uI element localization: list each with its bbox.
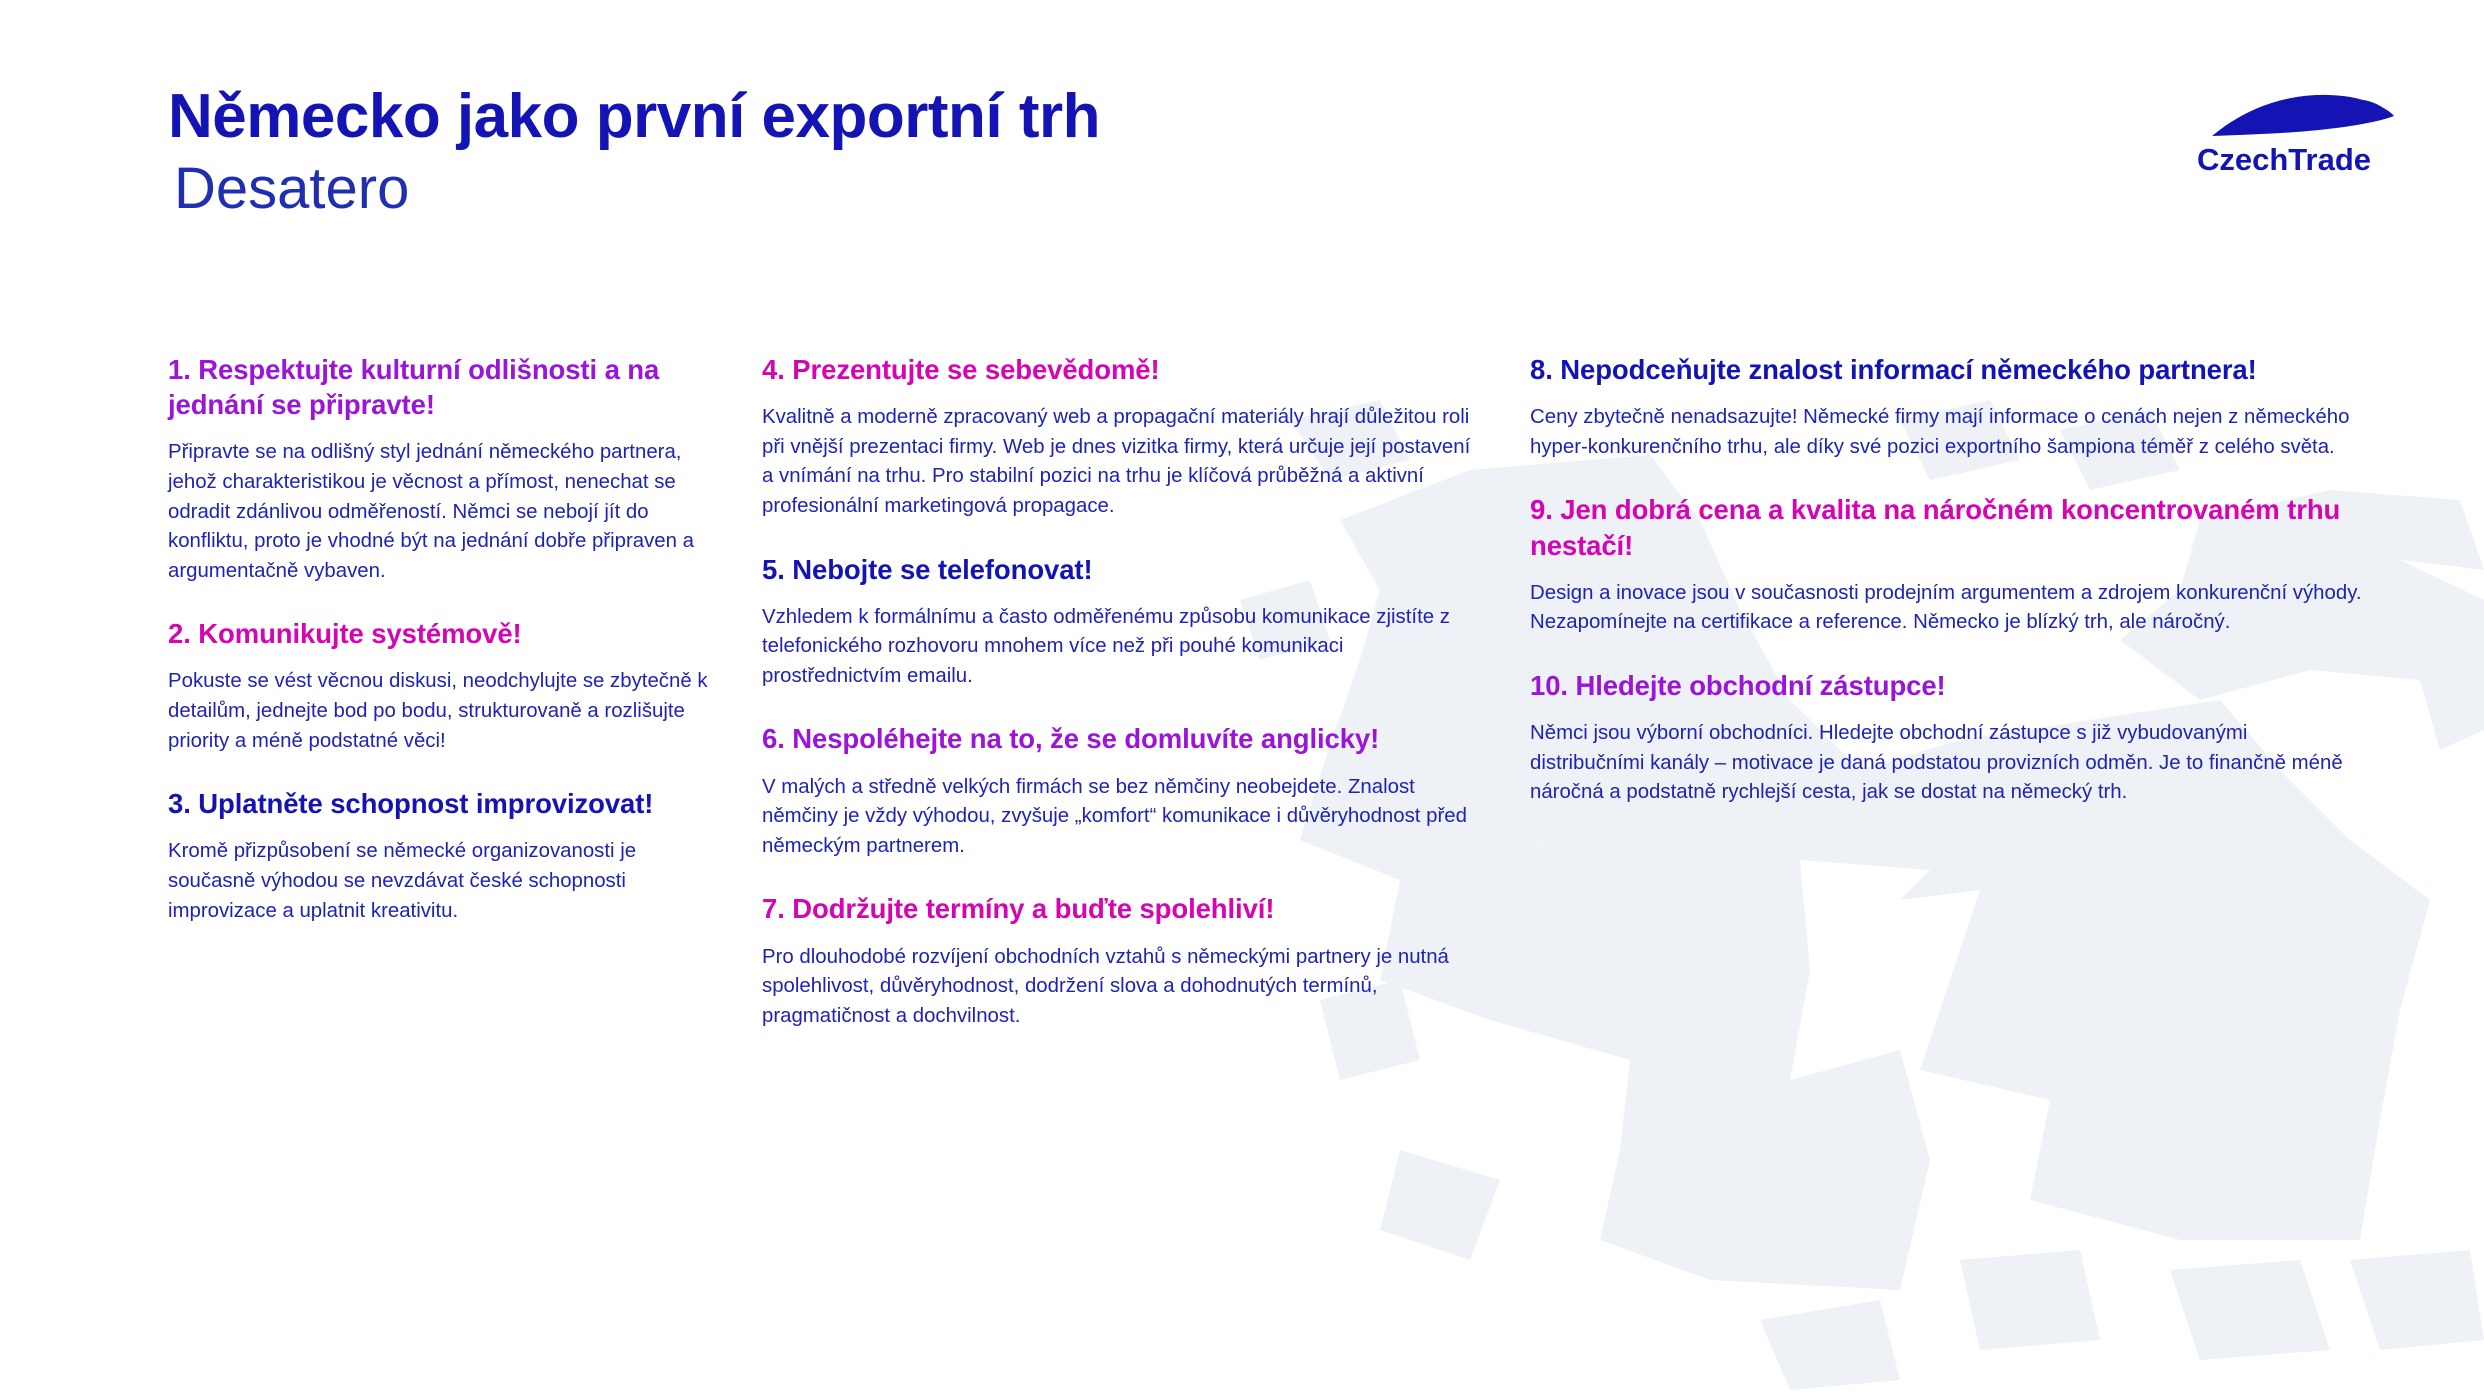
tip-heading-6: 6. Nespoléhejte na to, že se domluvíte a… bbox=[762, 721, 1474, 756]
tip-item-6: 6. Nespoléhejte na to, že se domluvíte a… bbox=[762, 721, 1474, 861]
tip-heading-2: 2. Komunikujte systémově! bbox=[168, 616, 708, 651]
tips-column-1: 1. Respektujte kulturní odlišnosti a na … bbox=[0, 352, 762, 1398]
czechtrade-wordmark-text: CzechTrade bbox=[2197, 142, 2371, 177]
tip-body-2: Pokuste se vést věcnou diskusi, neodchyl… bbox=[168, 667, 708, 756]
document-page: Německo jako první exportní trh Desatero… bbox=[0, 0, 2484, 1398]
tip-item-7: 7. Dodržujte termíny a buďte spolehliví!… bbox=[762, 891, 1474, 1031]
tip-item-8: 8. Nepodceňujte znalost informací německ… bbox=[1530, 352, 2364, 462]
tip-body-10: Němci jsou výborní obchodníci. Hledejte … bbox=[1530, 719, 2364, 808]
tips-column-2: 4. Prezentujte se sebevědomě! Kvalitně a… bbox=[762, 352, 1530, 1398]
tips-column-3: 8. Nepodceňujte znalost informací německ… bbox=[1530, 352, 2484, 1398]
tip-heading-10: 10. Hledejte obchodní zástupce! bbox=[1530, 668, 2364, 703]
tip-heading-3: 3. Uplatněte schopnost improvizovat! bbox=[168, 786, 708, 821]
page-header: Německo jako první exportní trh Desatero… bbox=[0, 0, 2484, 330]
page-subtitle: Desatero bbox=[174, 155, 1100, 223]
tip-body-7: Pro dlouhodobé rozvíjení obchodních vzta… bbox=[762, 943, 1474, 1032]
tip-heading-8: 8. Nepodceňujte znalost informací německ… bbox=[1530, 352, 2364, 387]
title-block: Německo jako první exportní trh Desatero bbox=[168, 82, 1100, 224]
tip-body-3: Kromě přizpůsobení se německé organizova… bbox=[168, 837, 708, 926]
czechtrade-wordmark: CzechTrade bbox=[2168, 140, 2400, 180]
tip-heading-5: 5. Nebojte se telefonovat! bbox=[762, 552, 1474, 587]
tip-body-8: Ceny zbytečně nenadsazujte! Německé firm… bbox=[1530, 403, 2364, 462]
sail-swoosh-icon bbox=[2168, 92, 2400, 138]
tip-body-4: Kvalitně a moderně zpracovaný web a prop… bbox=[762, 403, 1474, 521]
tip-body-1: Připravte se na odlišný styl jednání něm… bbox=[168, 438, 708, 586]
tip-item-10: 10. Hledejte obchodní zástupce! Němci js… bbox=[1530, 668, 2364, 808]
tip-heading-7: 7. Dodržujte termíny a buďte spolehliví! bbox=[762, 891, 1474, 926]
tip-heading-9: 9. Jen dobrá cena a kvalita na náročném … bbox=[1530, 492, 2364, 562]
czechtrade-logo: CzechTrade bbox=[2168, 92, 2400, 178]
tip-heading-4: 4. Prezentujte se sebevědomě! bbox=[762, 352, 1474, 387]
page-title: Německo jako první exportní trh bbox=[168, 82, 1100, 151]
tip-item-2: 2. Komunikujte systémově! Pokuste se vés… bbox=[168, 616, 708, 756]
tip-item-5: 5. Nebojte se telefonovat! Vzhledem k fo… bbox=[762, 552, 1474, 692]
tip-body-9: Design a inovace jsou v současnosti prod… bbox=[1530, 579, 2364, 638]
tip-heading-1: 1. Respektujte kulturní odlišnosti a na … bbox=[168, 352, 708, 422]
tip-item-3: 3. Uplatněte schopnost improvizovat! Kro… bbox=[168, 786, 708, 926]
tips-columns: 1. Respektujte kulturní odlišnosti a na … bbox=[0, 352, 2484, 1398]
tip-body-6: V malých a středně velkých firmách se be… bbox=[762, 773, 1474, 862]
tip-body-5: Vzhledem k formálnímu a často odměřenému… bbox=[762, 603, 1474, 692]
tip-item-4: 4. Prezentujte se sebevědomě! Kvalitně a… bbox=[762, 352, 1474, 522]
tip-item-9: 9. Jen dobrá cena a kvalita na náročném … bbox=[1530, 492, 2364, 638]
tip-item-1: 1. Respektujte kulturní odlišnosti a na … bbox=[168, 352, 708, 586]
